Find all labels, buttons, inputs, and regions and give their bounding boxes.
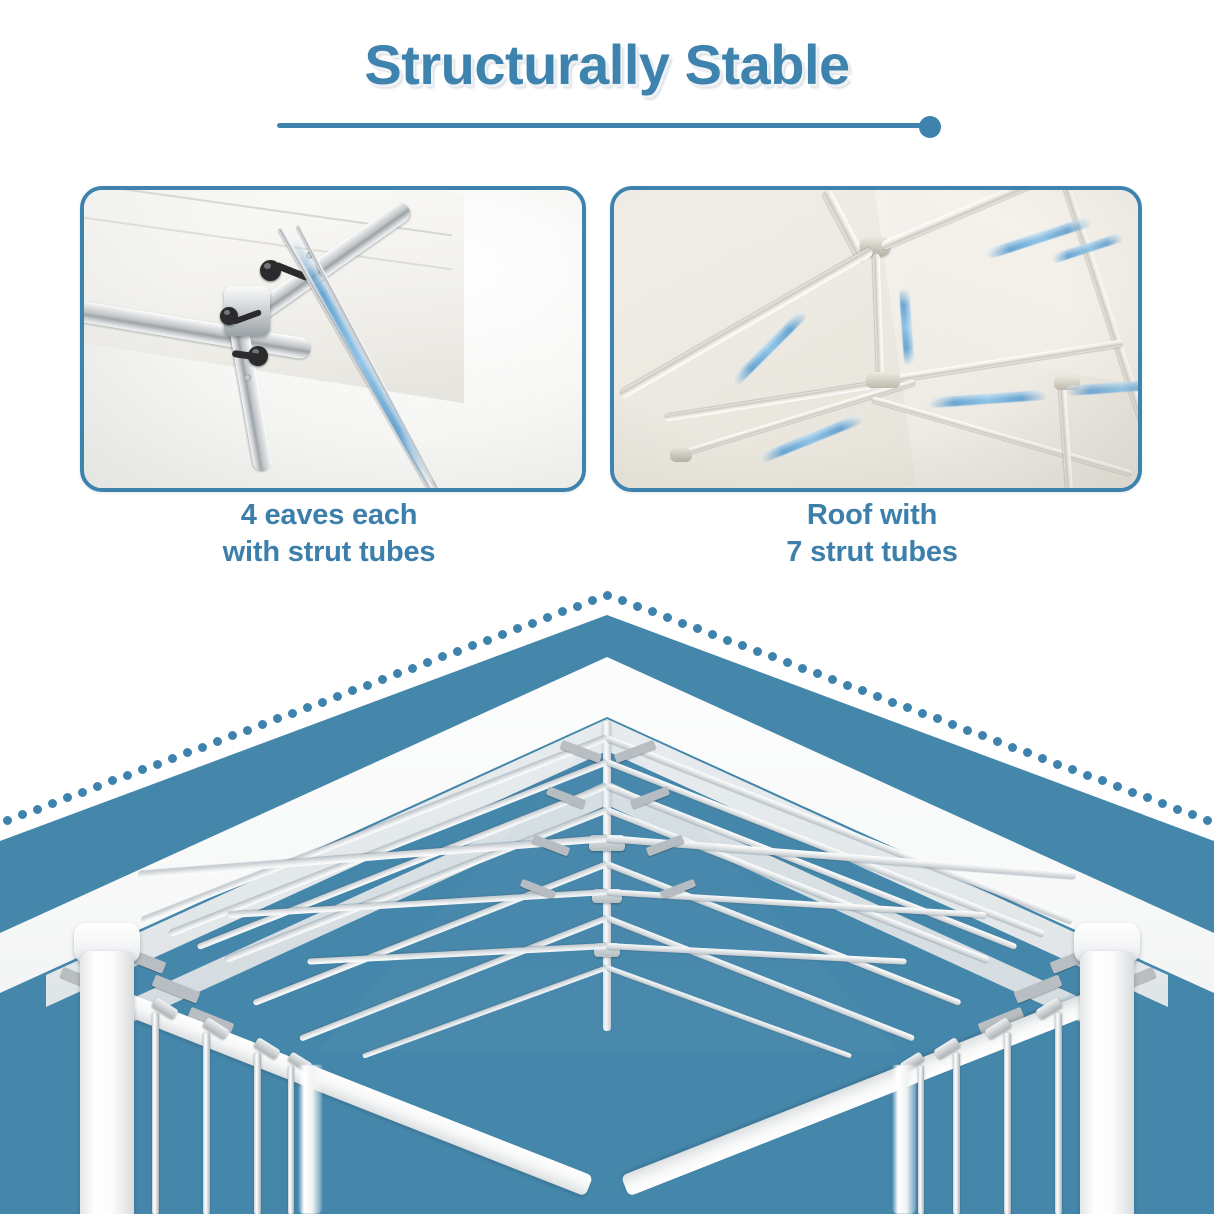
support-pole: [288, 1066, 294, 1214]
page-title: Structurally Stable: [364, 36, 849, 95]
support-pole: [152, 1013, 159, 1214]
truss-chord-left-lower: [307, 943, 607, 965]
support-pole: [1055, 1013, 1062, 1214]
corner-post-right: [1080, 951, 1134, 1214]
caption-eaves-line1: 4 eaves each: [80, 497, 578, 534]
carport-structure: [0, 545, 1214, 1214]
support-pole: [254, 1053, 261, 1214]
truss-chord-right-lower: [607, 943, 907, 965]
page-title-wrap: Structurally Stable: [0, 36, 1214, 95]
feature-panel-eaves: [80, 186, 586, 492]
wall-drape-left: [298, 1065, 322, 1214]
hero-carport-image: [0, 545, 1214, 1214]
underline-bar: [277, 123, 937, 128]
product-feature-image: Structurally Stable: [0, 0, 1214, 1214]
support-pole: [1004, 1033, 1011, 1214]
support-pole: [203, 1033, 210, 1214]
accent-dot-icon: [919, 116, 941, 138]
feature-panel-roof: [610, 186, 1142, 492]
support-pole: [918, 1066, 924, 1214]
truss-king-post: [603, 721, 611, 1031]
caption-roof-line1: Roof with: [610, 497, 1134, 534]
wall-drape-right: [892, 1065, 916, 1214]
photo-eaves-corner-joint: [84, 190, 582, 488]
support-pole: [953, 1053, 960, 1214]
photo-roof-underside: [614, 190, 1138, 488]
title-underline: [277, 116, 957, 138]
corner-post-left: [80, 951, 134, 1214]
